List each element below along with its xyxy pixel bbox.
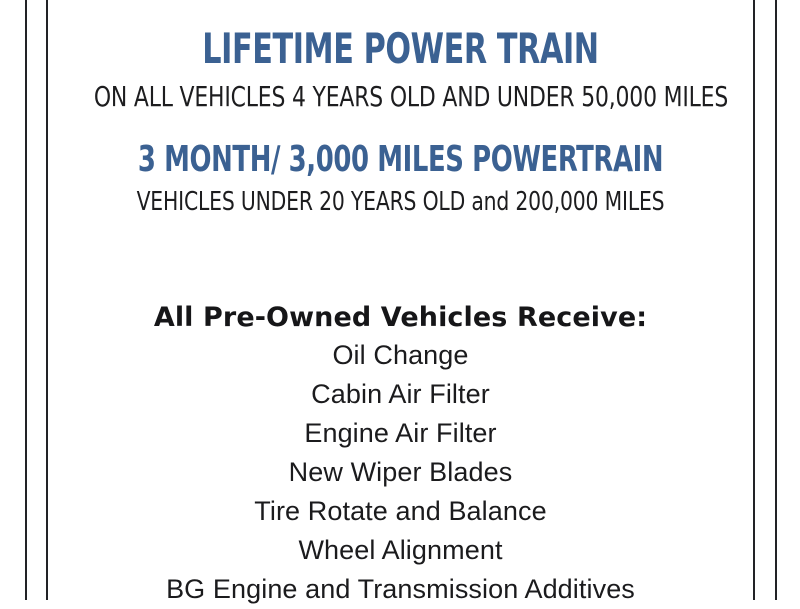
three-month-powertrain-headline: 3 MONTH/ 3,000 MILES POWERTRAIN	[119, 142, 683, 178]
lifetime-powertrain-headline: LIFETIME POWER TRAIN	[119, 28, 683, 70]
list-item: Tire Rotate and Balance	[48, 492, 753, 531]
right-outer-border-rule	[775, 0, 777, 600]
list-item: New Wiper Blades	[48, 453, 753, 492]
three-month-powertrain-subtitle: VEHICLES UNDER 20 YEARS OLD and 200,000 …	[94, 189, 707, 215]
list-item: Cabin Air Filter	[48, 375, 753, 414]
list-item: Wheel Alignment	[48, 531, 753, 570]
flyer-content: LIFETIME POWER TRAIN ON ALL VEHICLES 4 Y…	[48, 0, 753, 600]
warranty-block-lifetime: LIFETIME POWER TRAIN ON ALL VEHICLES 4 Y…	[48, 28, 753, 111]
warranty-flyer: LIFETIME POWER TRAIN ON ALL VEHICLES 4 Y…	[0, 0, 800, 600]
warranty-block-three-month: 3 MONTH/ 3,000 MILES POWERTRAIN VEHICLES…	[48, 142, 753, 215]
services-heading: All Pre-Owned Vehicles Receive:	[48, 299, 753, 336]
left-outer-border-rule	[25, 0, 27, 600]
services-list: Oil Change Cabin Air Filter Engine Air F…	[48, 336, 753, 609]
right-inner-border-rule	[753, 0, 755, 600]
list-item: Oil Change	[48, 336, 753, 375]
services-section: All Pre-Owned Vehicles Receive: Oil Chan…	[48, 299, 753, 609]
list-item: Engine Air Filter	[48, 414, 753, 453]
lifetime-powertrain-subtitle: ON ALL VEHICLES 4 YEARS OLD AND UNDER 50…	[94, 83, 707, 111]
list-item: BG Engine and Transmission Additives	[48, 570, 753, 609]
